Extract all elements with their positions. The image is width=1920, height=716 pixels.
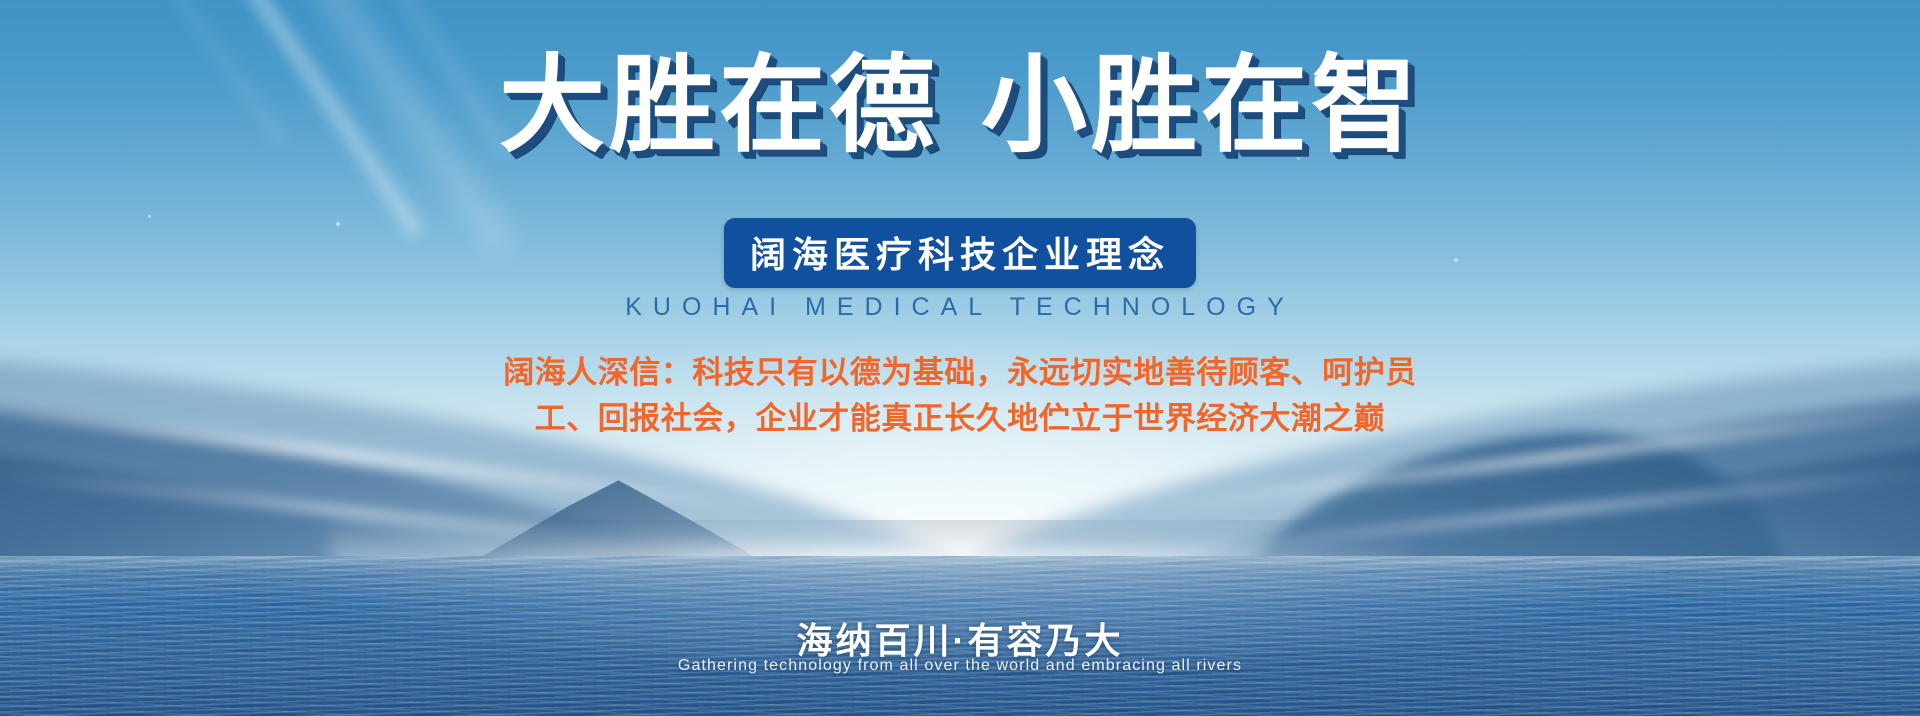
page-title: 大胜在德小胜在智	[0, 48, 1920, 165]
paragraph-line-2: 工、回报社会，企业才能真正长久地伫立于世界经济大潮之巅	[445, 396, 1475, 442]
english-subtitle: KUOHAI MEDICAL TECHNOLOGY	[0, 293, 1920, 322]
banner-stage: 大胜在德小胜在智 阔海医疗科技企业理念 KUOHAI MEDICAL TECHN…	[0, 0, 1920, 716]
headline-right: 小胜在智	[981, 47, 1421, 165]
headline-left: 大胜在德	[499, 47, 939, 165]
philosophy-paragraph: 阔海人深信：科技只有以德为基础，永远切实地善待顾客、呵护员 工、回报社会，企业才…	[445, 350, 1475, 442]
slogan-english: Gathering technology from all over the w…	[0, 657, 1920, 675]
banner-content: 大胜在德小胜在智 阔海医疗科技企业理念 KUOHAI MEDICAL TECHN…	[0, 0, 1920, 716]
status-badge: 阔海医疗科技企业理念	[724, 218, 1196, 288]
paragraph-line-1: 阔海人深信：科技只有以德为基础，永远切实地善待顾客、呵护员	[445, 350, 1475, 396]
